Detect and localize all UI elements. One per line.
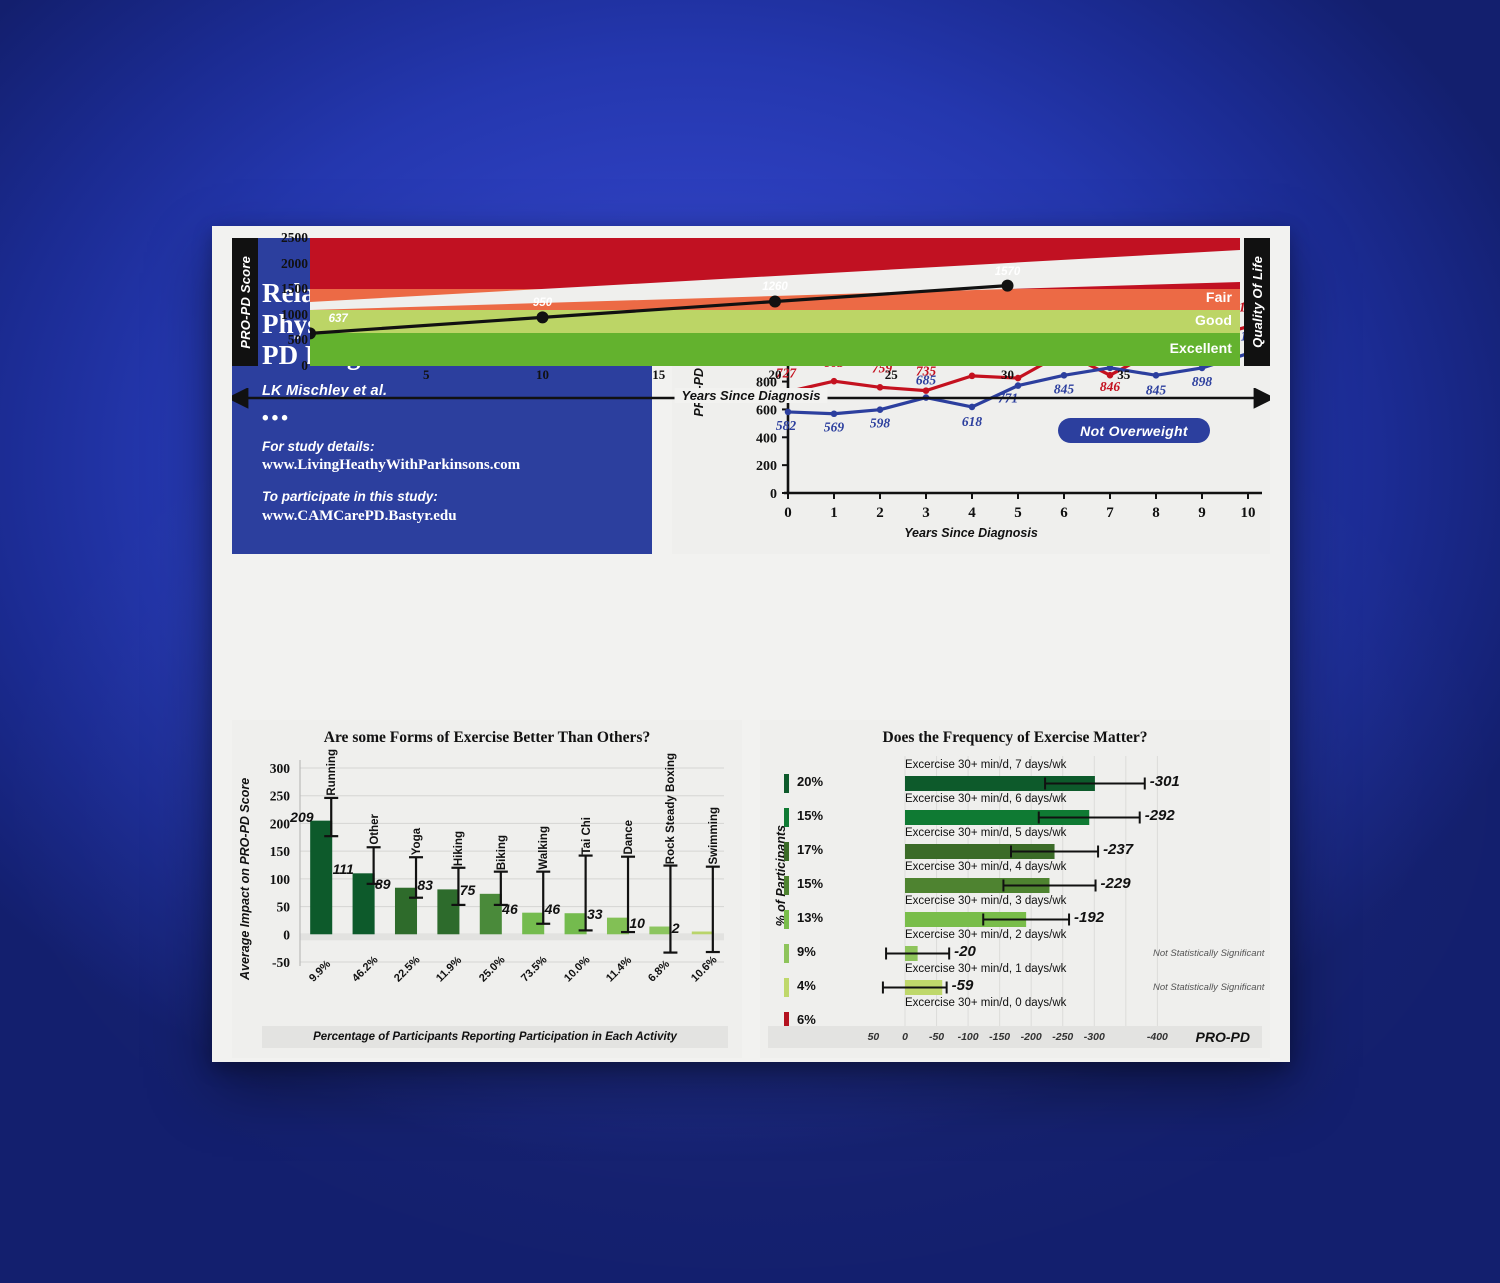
qol-x-tick: 35: [1117, 367, 1130, 383]
bar-participation-label: 11.4%: [604, 954, 634, 984]
bar-category-label: Running: [326, 749, 338, 796]
frequency-row-note: Not Statistically Significant: [1153, 948, 1264, 959]
bar-category-label: Swimming: [708, 807, 720, 865]
svg-text:9: 9: [1198, 505, 1206, 521]
qol-arrow-row: Years Since Diagnosis: [232, 388, 1270, 410]
exercise-frequency-overlay: 20%Excercise 30+ min/d, 7 days/wk-30115%…: [760, 720, 1270, 1058]
svg-text:4: 4: [968, 505, 976, 521]
legend-not-overweight: Not Overweight: [1058, 418, 1210, 443]
participate-url[interactable]: www.CAMCarePD.Bastyr.edu: [262, 507, 634, 527]
frequency-row-caption: Excercise 30+ min/d, 3 days/wk: [905, 895, 1066, 907]
frequency-row-value: -229: [1101, 875, 1131, 892]
frequency-x-tick: 50: [868, 1031, 880, 1043]
qol-point-label-0: 637: [329, 313, 348, 325]
frequency-x-tick: -150: [989, 1031, 1010, 1043]
study-details-block: For study details: www.LivingHeathyWithP…: [262, 438, 634, 476]
bar-category-label: Dance: [623, 820, 635, 855]
bar-participation-label: 73.5%: [519, 954, 550, 985]
frequency-row-percent: 13%: [797, 910, 823, 925]
bar-category-label: Hiking: [453, 831, 465, 866]
frequency-row-value: -192: [1074, 909, 1104, 926]
frequency-x-tick: -250: [1052, 1031, 1073, 1043]
qol-x-tick: 25: [885, 367, 898, 383]
svg-text:8: 8: [1152, 505, 1160, 521]
frequency-row-percent: 9%: [797, 944, 816, 959]
frequency-row-caption: Excercise 30+ min/d, 1 days/wk: [905, 963, 1066, 975]
frequency-row-percent: 17%: [797, 842, 823, 857]
bar-category-label: Biking: [496, 835, 508, 870]
frequency-row-value: -292: [1145, 807, 1175, 824]
bar-participation-label: 25.0%: [477, 954, 508, 985]
frequency-row-caption: Excercise 30+ min/d, 7 days/wk: [905, 759, 1066, 771]
bar-participation-label: 10.6%: [689, 954, 720, 985]
bar-category-label: Yoga: [411, 828, 423, 855]
frequency-row-value: -20: [954, 943, 976, 960]
exercise-frequency-x-axis-label: PRO-PD: [1196, 1029, 1250, 1045]
svg-text:10: 10: [1241, 505, 1256, 521]
qol-y-tick: 2500: [281, 230, 308, 246]
qol-trend-line: [310, 238, 1240, 366]
qol-y-tick: 2000: [281, 256, 308, 272]
qol-x-tick: 10: [536, 367, 549, 383]
study-details-url[interactable]: www.LivingHeathyWithParkinsons.com: [262, 456, 634, 476]
bar-participation-label: 10.0%: [562, 954, 593, 985]
bar-value-label: 46: [502, 901, 518, 917]
svg-text:569: 569: [824, 420, 845, 435]
frequency-row-value: -301: [1150, 773, 1180, 790]
exercise-forms-chart: Are some Forms of Exercise Better Than O…: [232, 720, 742, 1058]
exercise-forms-x-axis-label: Percentage of Participants Reporting Par…: [262, 1026, 728, 1048]
bar-category-label: Rock Steady Boxing: [665, 753, 677, 864]
bar-value-label: 10: [629, 915, 645, 931]
svg-text:0: 0: [784, 505, 792, 521]
participate-label: To participate in this study:: [262, 488, 634, 506]
frequency-row-swatch: [784, 808, 789, 827]
svg-text:5: 5: [1014, 505, 1022, 521]
study-details-label: For study details:: [262, 438, 634, 456]
qol-x-tick: 5: [423, 367, 430, 383]
svg-text:400: 400: [756, 431, 777, 446]
frequency-x-tick: 0: [902, 1031, 908, 1043]
exercise-frequency-axis-strip: PRO-PD 500-50-100-150-200-250-300-400: [768, 1026, 1262, 1048]
qol-y-axis-tab: PRO-PD Score: [232, 238, 258, 366]
bar-category-label: Other: [369, 814, 381, 845]
qol-y-tick: 1000: [281, 307, 308, 323]
svg-text:2: 2: [876, 505, 884, 521]
qol-x-axis-label: Years Since Diagnosis: [675, 388, 828, 403]
qol-x-tick: 20: [769, 367, 782, 383]
frequency-row-caption: Excercise 30+ min/d, 6 days/wk: [905, 793, 1066, 805]
frequency-row-swatch: [784, 774, 789, 793]
exercise-frequency-chart: Does the Frequency of Exercise Matter? %…: [760, 720, 1270, 1058]
svg-text:6: 6: [1060, 505, 1068, 521]
frequency-x-tick: -100: [958, 1031, 979, 1043]
svg-text:0: 0: [770, 487, 777, 502]
bar-value-label: 75: [460, 882, 476, 898]
qol-x-tick: 15: [652, 367, 665, 383]
frequency-row-caption: Excercise 30+ min/d, 2 days/wk: [905, 929, 1066, 941]
bar-category-label: Tai Chi: [581, 817, 593, 854]
svg-text:582: 582: [776, 418, 797, 433]
frequency-row-percent: 20%: [797, 774, 823, 789]
bar-category-label: Walking: [538, 826, 550, 870]
bar-participation-label: 9.9%: [307, 958, 333, 984]
frequency-row-swatch: [784, 978, 789, 997]
bar-value-label: 33: [587, 906, 603, 922]
svg-text:1: 1: [830, 505, 838, 521]
svg-text:7: 7: [1106, 505, 1114, 521]
frequency-row-swatch: [784, 910, 789, 929]
qol-right-axis-label: Quality Of Life: [1250, 256, 1265, 348]
line-chart-x-axis-label: Years Since Diagnosis: [672, 526, 1270, 540]
qol-point-label-3: 1570: [995, 266, 1021, 278]
qol-propd-chart: PRO-PD Score Quality Of Life 05001000150…: [232, 238, 1270, 376]
frequency-x-tick: -200: [1021, 1031, 1042, 1043]
frequency-row-swatch: [784, 876, 789, 895]
qol-right-axis-tab: Quality Of Life: [1244, 238, 1270, 366]
bar-value-label: 209: [290, 809, 313, 825]
qol-point-label-2: 1260: [762, 281, 788, 293]
svg-text:200: 200: [756, 459, 777, 474]
bar-participation-label: 11.9%: [434, 954, 464, 984]
frequency-row-swatch: [784, 842, 789, 861]
frequency-row-swatch: [784, 944, 789, 963]
bar-value-label: 89: [375, 876, 391, 892]
bar-participation-label: 22.5%: [392, 954, 423, 985]
frequency-row-caption: Excercise 30+ min/d, 4 days/wk: [905, 861, 1066, 873]
qol-y-tick: 1500: [281, 281, 308, 297]
frequency-row-percent: 15%: [797, 876, 823, 891]
svg-text:598: 598: [870, 416, 891, 431]
svg-text:3: 3: [922, 505, 930, 521]
frequency-row-value: -237: [1103, 841, 1133, 858]
frequency-x-tick: -400: [1147, 1031, 1168, 1043]
frequency-row-caption: Excercise 30+ min/d, 5 days/wk: [905, 827, 1066, 839]
decorative-dots: •••: [262, 413, 634, 424]
bar-participation-label: 46.2%: [350, 954, 381, 985]
svg-text:618: 618: [962, 414, 983, 429]
qol-y-axis-label: PRO-PD Score: [238, 256, 253, 349]
frequency-row-percent: 15%: [797, 808, 823, 823]
bar-value-label: 2: [672, 920, 680, 936]
qol-x-tick: 30: [1001, 367, 1014, 383]
bar-value-label: 111: [333, 861, 354, 877]
bar-value-label: 46: [545, 901, 561, 917]
qol-plot-area: Correlation Between Quality of Life and …: [310, 238, 1240, 366]
frequency-row-note: Not Statistically Significant: [1153, 982, 1264, 993]
qol-x-axis: 5101520253035: [310, 367, 1240, 383]
research-poster: 2020 Relationship Between Physical Activ…: [212, 226, 1290, 1062]
frequency-x-tick: -50: [929, 1031, 944, 1043]
frequency-row-caption: Excercise 30+ min/d, 0 days/wk: [905, 997, 1066, 1009]
qol-point-label-1: 950: [533, 297, 552, 309]
frequency-row-value: -59: [952, 977, 974, 994]
qol-y-axis: 05001000150020002500: [258, 238, 310, 366]
qol-y-tick: 0: [301, 358, 308, 374]
exercise-forms-overlay: 209Running9.9%111Other46.2%89Yoga22.5%83…: [232, 720, 742, 1058]
frequency-row-percent: 4%: [797, 978, 816, 993]
bar-participation-label: 6.8%: [646, 958, 672, 984]
participate-block: To participate in this study: www.CAMCar…: [262, 488, 634, 526]
qol-y-tick: 500: [288, 332, 308, 348]
bar-value-label: 83: [417, 877, 433, 893]
frequency-row-percent: 6%: [797, 1012, 816, 1027]
frequency-x-tick: -300: [1084, 1031, 1105, 1043]
